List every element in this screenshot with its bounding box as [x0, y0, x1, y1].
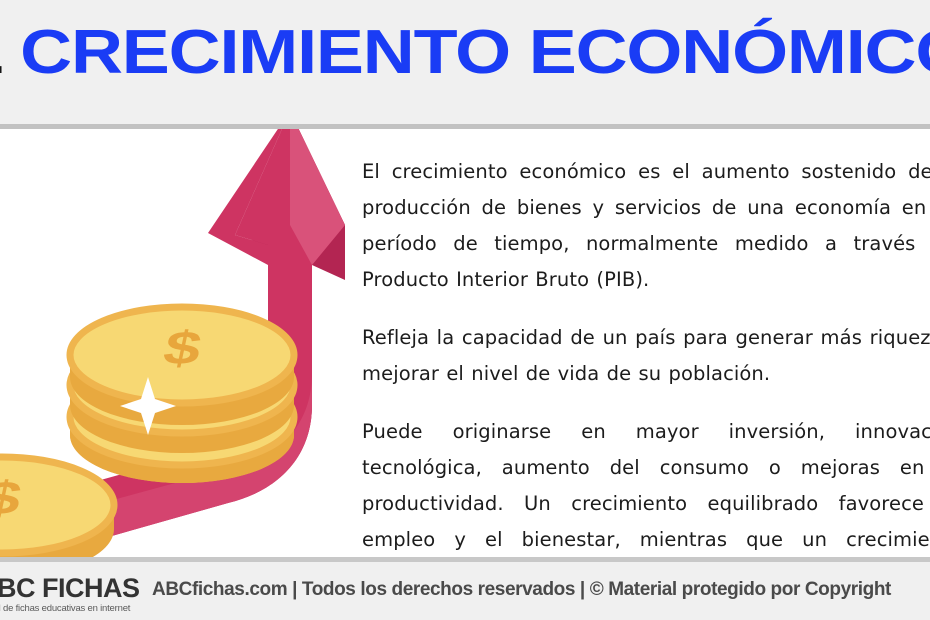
- logo-tagline: portal de fichas educativas en internet: [0, 603, 148, 615]
- paragraph-1: El crecimiento económico es el aumento s…: [362, 154, 930, 298]
- paragraph-2: Refleja la capacidad de un país para gen…: [362, 320, 930, 392]
- paragraph-3: Puede originarse en mayor inversión, inn…: [362, 414, 930, 557]
- growth-arrow-coins-illustration: $ $: [0, 129, 360, 555]
- page-title: L CRECIMIENTO ECONÓMICO: [0, 18, 930, 88]
- header-band: L CRECIMIENTO ECONÓMICO: [0, 0, 930, 124]
- page-title-main: CRECIMIENTO ECONÓMICO: [20, 18, 930, 87]
- coin-stack-lower: $: [0, 457, 114, 557]
- abcfichas-logo: ABC FICHAS portal de fichas educativas e…: [0, 574, 148, 615]
- logo-name: ABC FICHAS: [0, 574, 148, 602]
- coin-stack-upper: $: [70, 307, 294, 483]
- main-content: $ $ El crecimiento económico es el aumen…: [0, 129, 930, 557]
- page-title-lead: L: [0, 18, 20, 87]
- body-text-column: El crecimiento económico es el aumento s…: [362, 154, 930, 557]
- copyright-notice: ABCfichas.com | Todos los derechos reser…: [152, 578, 930, 602]
